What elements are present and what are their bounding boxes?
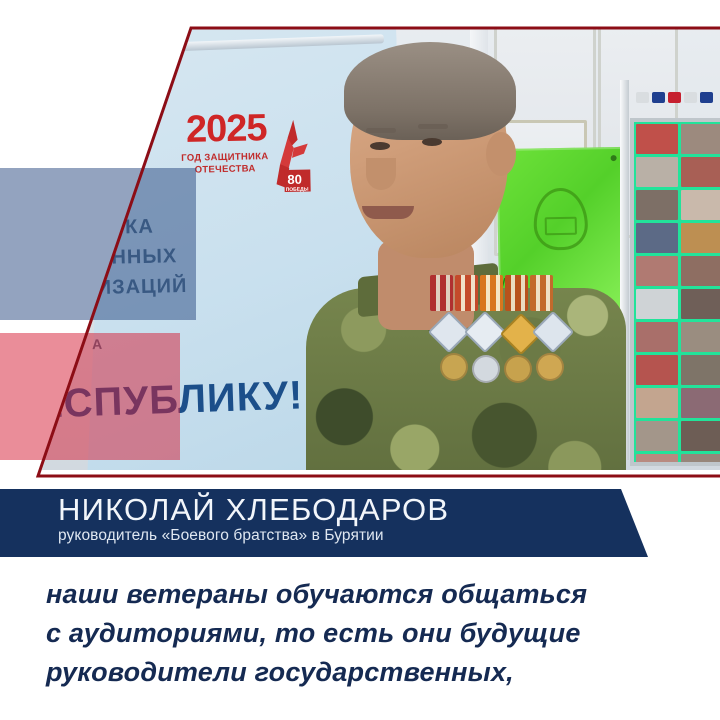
decorative-flag-garland (636, 92, 720, 104)
flag-band-blue (0, 168, 196, 320)
collage-photo (636, 289, 678, 319)
eyebrow (418, 124, 448, 129)
collage-photo (636, 388, 678, 418)
collage-photo (681, 223, 720, 253)
collage-photo (681, 289, 720, 319)
quote-line: руководители государственных, (46, 653, 686, 692)
speaker-role: руководитель «Боевого братства» в Буряти… (58, 527, 384, 545)
mouth (362, 206, 414, 219)
collage-photo (636, 421, 678, 451)
interview-subject (300, 40, 630, 470)
medal (472, 355, 500, 383)
medal (440, 353, 468, 381)
collage-photo (681, 421, 720, 451)
eyebrow (366, 128, 396, 133)
collage-photo (636, 157, 678, 187)
medal (464, 311, 506, 353)
collage-photo (681, 355, 720, 385)
collage-photo (636, 355, 678, 385)
medal-group (430, 275, 610, 395)
medal-ribbon (430, 275, 453, 311)
collage-photo (636, 223, 678, 253)
collage-photo (681, 388, 720, 418)
medal-ribbon (480, 275, 503, 311)
medal (504, 355, 532, 383)
nose (366, 158, 396, 190)
medal (532, 311, 574, 353)
medal-ribbon (505, 275, 528, 311)
photo-stage: 2025 ГОД ЗАЩИТНИКАОТЕЧЕСТВА 80 ПОБЕДЫ АР… (0, 0, 720, 478)
collage-photo (681, 190, 720, 220)
flag-band-red (0, 333, 180, 460)
collage-photo (636, 454, 678, 466)
collage-photo (636, 190, 678, 220)
collage-photo (681, 454, 720, 466)
eye (422, 138, 442, 146)
quote-block: наши ветераны обучаются общаться с аудит… (46, 575, 686, 692)
quote-line: с аудиториями, то есть они будущие (46, 614, 686, 653)
quote-card: 2025 ГОД ЗАЩИТНИКАОТЕЧЕСТВА 80 ПОБЕДЫ АР… (0, 0, 720, 720)
collage-photo (636, 322, 678, 352)
speaker-name: НИКОЛАЙ ХЛЕБОДАРОВ (58, 492, 449, 528)
eye (370, 142, 390, 150)
collage-photo (681, 124, 720, 154)
collage-photo (681, 322, 720, 352)
photo-collage-board (630, 118, 720, 466)
collage-photo (636, 124, 678, 154)
poster-year: 2025 (186, 107, 267, 152)
collage-grid (636, 124, 720, 456)
medal (536, 353, 564, 381)
quote-line: наши ветераны обучаются общаться (46, 575, 686, 614)
medal-ribbon (455, 275, 478, 311)
collage-photo (681, 256, 720, 286)
collage-photo (681, 157, 720, 187)
medal-ribbon (530, 275, 553, 311)
collage-photo (636, 256, 678, 286)
ear (486, 132, 516, 176)
